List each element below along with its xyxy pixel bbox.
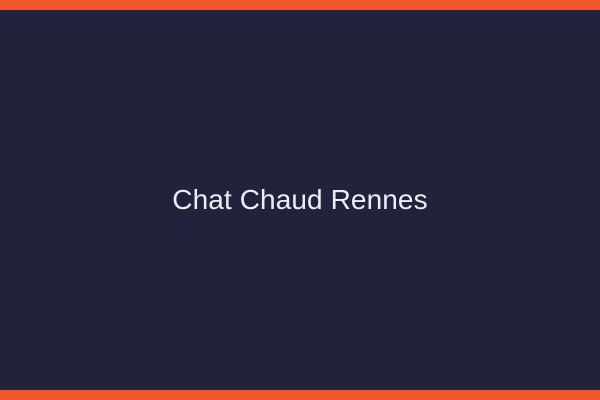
placeholder-card: Chat Chaud Rennes (0, 0, 600, 400)
caption-stage: Chat Chaud Rennes (0, 10, 600, 390)
bottom-accent-bar (0, 390, 600, 400)
placeholder-caption: Chat Chaud Rennes (172, 183, 427, 217)
top-accent-bar (0, 0, 600, 10)
